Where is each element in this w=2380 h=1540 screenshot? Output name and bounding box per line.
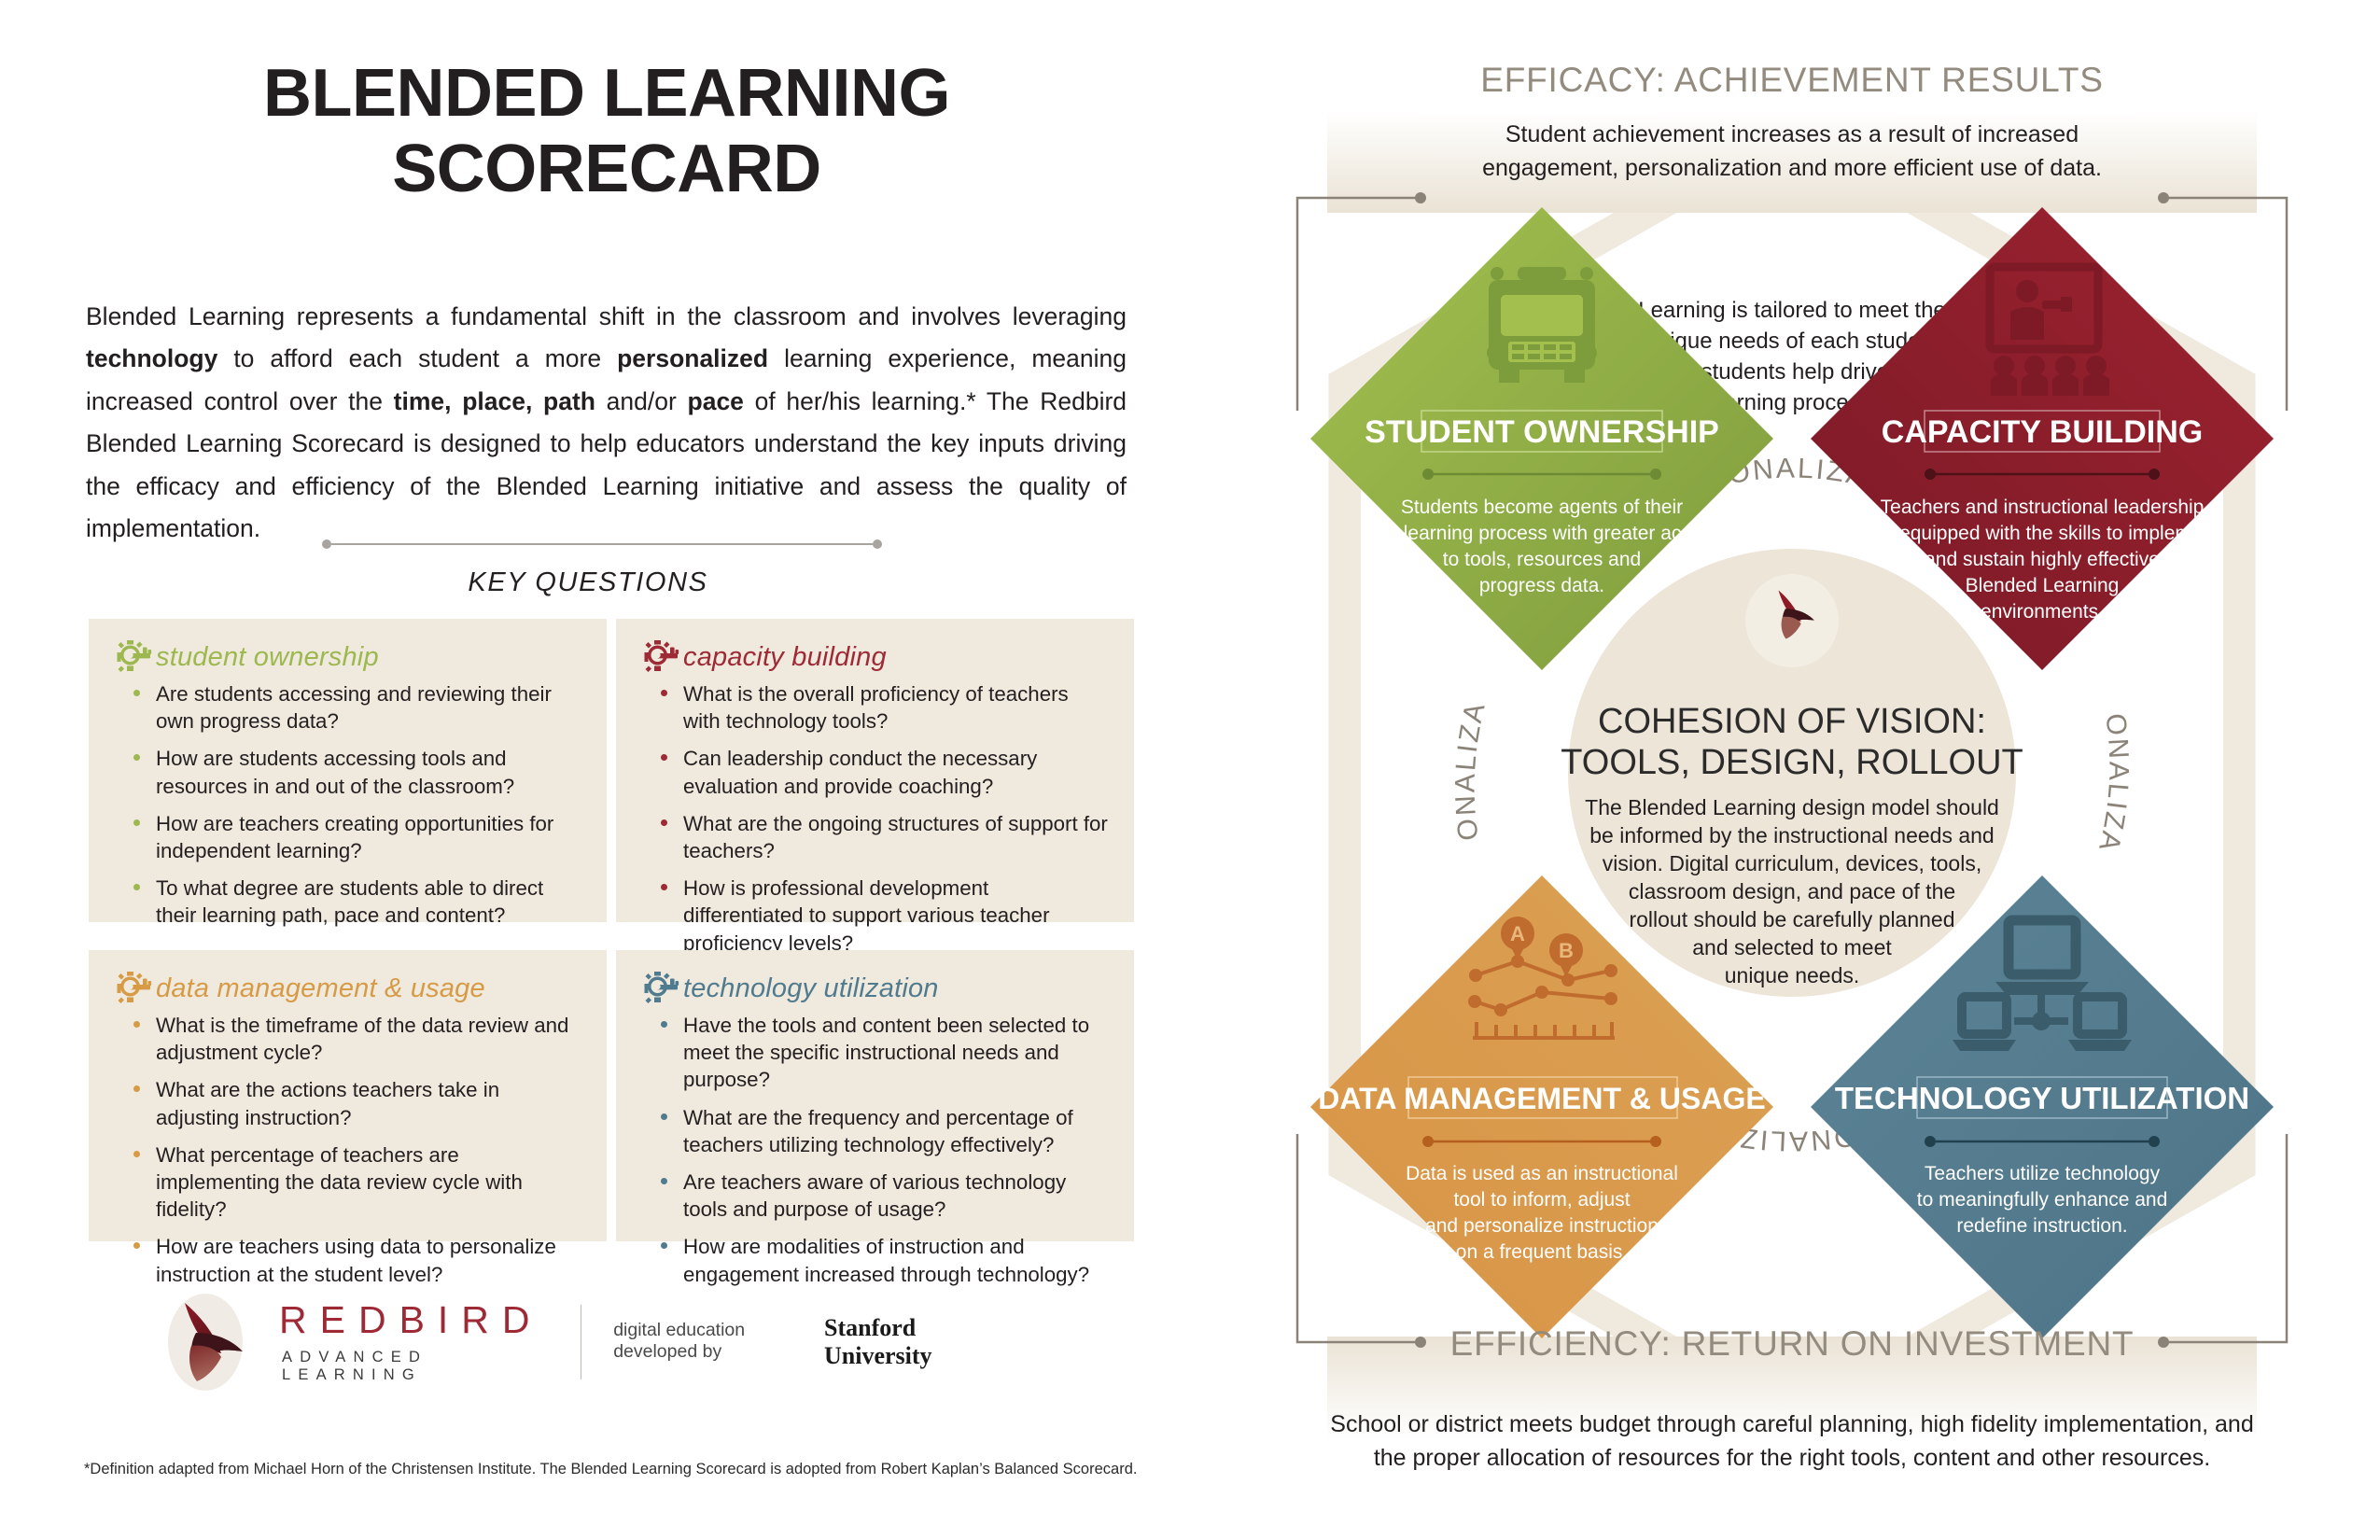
question-list: What is the overall proficiency of teach…	[640, 680, 1110, 957]
quadrant-body-line: redefine instruction.	[1956, 1215, 2127, 1237]
divider-dot-left	[322, 539, 331, 549]
question-list: Have the tools and content been selected…	[640, 1012, 1110, 1288]
quadrant-title: STUDENT OWNERSHIP	[1365, 414, 1719, 450]
intro-bold-time-place-path: time, place, path	[394, 387, 595, 415]
chart-point-a-label: A	[1510, 922, 1525, 945]
quadrant-body-line: to tools, resources and	[1443, 549, 1641, 570]
center-body-line: be informed by the instructional needs a…	[1589, 823, 1994, 847]
intro-text-4: and/or	[595, 387, 688, 415]
quadrant-title: DATA MANAGEMENT & USAGE	[1318, 1082, 1765, 1115]
intro-bold-pace: pace	[688, 387, 744, 415]
question-card-student-ownership: student ownership Are students accessing…	[89, 619, 607, 922]
question-item: What are the actions teachers take in ad…	[113, 1076, 582, 1130]
partner-prefix: digital education developed by	[613, 1320, 816, 1363]
page-title-line-1: BLENDED LEARNING	[112, 56, 1101, 132]
redbird-tagline: ADVANCED LEARNING	[282, 1349, 543, 1384]
chart-point-b-label: B	[1559, 939, 1574, 962]
efficacy-subtitle-line-2: engagement, personalization and more eff…	[1482, 155, 2102, 181]
question-item: Are teachers aware of various technology…	[640, 1169, 1110, 1223]
question-card-header: student ownership	[115, 639, 582, 675]
question-card-header: capacity building	[642, 639, 1110, 675]
intro-bold-personalized: personalized	[617, 344, 768, 372]
center-body-line: vision. Digital curriculum, devices, too…	[1603, 851, 1981, 875]
question-item: Are students accessing and reviewing the…	[113, 680, 582, 735]
divider-bar	[331, 543, 873, 545]
question-item: What are the ongoing structures of suppo…	[640, 810, 1110, 864]
question-card-title: data management & usage	[156, 973, 485, 1004]
question-item: How are teachers using data to personali…	[113, 1233, 582, 1287]
left-content-column: BLENDED LEARNING SCORECARD Blended Learn…	[0, 0, 1176, 1540]
key-gear-icon	[642, 639, 679, 675]
blended-learning-diagram: EFFICACY: ACHIEVEMENT RESULTS Student ac…	[1204, 0, 2380, 1540]
question-card-title: technology utilization	[683, 973, 939, 1004]
partner-credit: digital education developed by Stanford …	[613, 1314, 994, 1370]
efficiency-subtitle-line-2: the proper allocation of resources for t…	[1374, 1445, 2210, 1471]
personalization-line: unique needs of each student	[1645, 329, 1939, 354]
question-card-capacity-building: capacity building What is the overall pr…	[616, 619, 1134, 922]
quadrant-body-line: are equipped with the skills to implemen…	[1866, 523, 2219, 544]
quadrant-body-line: on a frequent basis.	[1456, 1241, 1628, 1263]
efficacy-header: EFFICACY: ACHIEVEMENT RESULTS	[1480, 61, 2103, 99]
question-item: How is professional development differen…	[640, 875, 1110, 957]
redbird-logo-icon	[154, 1292, 257, 1393]
question-card-title: student ownership	[156, 642, 379, 673]
quadrant-body-line: own learning process with greater access	[1362, 523, 1721, 544]
question-list: Are students accessing and reviewing the…	[113, 680, 582, 930]
key-gear-icon	[115, 971, 152, 1006]
question-item: What is the overall proficiency of teach…	[640, 680, 1110, 735]
page-title: BLENDED LEARNING SCORECARD	[112, 56, 1101, 206]
center-body-line: The Blended Learning design model should	[1585, 795, 1999, 819]
center-body-line: rollout should be carefully planned	[1629, 907, 1954, 931]
quadrant-body-line: progress data.	[1479, 575, 1604, 596]
center-body-line: unique needs.	[1725, 963, 1860, 987]
partner-name: Stanford University	[824, 1314, 994, 1370]
question-card-title: capacity building	[683, 642, 887, 673]
quadrant-body-line: Teachers utilize technology	[1925, 1163, 2161, 1184]
question-item: How are teachers creating opportunities …	[113, 810, 582, 864]
question-item: Have the tools and content been selected…	[640, 1012, 1110, 1094]
key-gear-icon	[642, 971, 679, 1006]
quadrant-title: CAPACITY BUILDING	[1882, 414, 2203, 450]
question-list: What is the timeframe of the data review…	[113, 1012, 582, 1288]
key-questions-divider	[322, 539, 882, 549]
question-item: What percentage of teachers are implemen…	[113, 1141, 582, 1224]
intro-text-2: to afford each student a more	[217, 344, 617, 372]
quadrant-body-line: Teachers and instructional leadership	[1881, 497, 2205, 518]
redbird-name: REDBIRD	[279, 1301, 543, 1339]
intro-text-1: Blended Learning represents a fundamenta…	[86, 302, 1127, 330]
brand-footer: REDBIRD ADVANCED LEARNING digital educat…	[154, 1286, 994, 1398]
center-body-line: and selected to meet	[1692, 935, 1892, 959]
question-item: To what degree are students able to dire…	[113, 875, 582, 929]
question-card-header: data management & usage	[115, 971, 582, 1006]
redbird-wordmark: REDBIRD ADVANCED LEARNING	[279, 1301, 543, 1384]
quadrant-body-line: tool to inform, adjust	[1453, 1189, 1630, 1211]
efficiency-subtitle-line-1: School or district meets budget through …	[1330, 1411, 2253, 1437]
question-card-data-management-usage: data management & usage What is the time…	[89, 950, 607, 1241]
quadrant-body-line: and sustain highly effective	[1925, 549, 2160, 570]
page-title-line-2: SCORECARD	[112, 132, 1101, 207]
quadrant-body-line: and personalize instruction	[1425, 1215, 1659, 1237]
intro-bold-technology: technology	[86, 344, 217, 372]
efficacy-subtitle-line-1: Student achievement increases as a resul…	[1505, 121, 2079, 147]
center-body-line: classroom design, and pace of the	[1629, 879, 1955, 903]
divider-dot-right	[873, 539, 882, 549]
center-title-line-2: TOOLS, DESIGN, ROLLOUT	[1561, 743, 2023, 782]
quadrant-body-line: Data is used as an instructional	[1406, 1163, 1678, 1184]
center-title-line-1: COHESION OF VISION:	[1598, 702, 1986, 741]
question-item: How are students accessing tools and res…	[113, 745, 582, 799]
question-item: Can leadership conduct the necessary eva…	[640, 745, 1110, 799]
center-circle: COHESION OF VISION: TOOLS, DESIGN, ROLLO…	[1547, 528, 2037, 1017]
question-item: What are the frequency and percentage of…	[640, 1104, 1110, 1158]
logo-divider	[581, 1305, 582, 1379]
quadrant-body-line: environments.	[1981, 601, 2104, 623]
personalization-line: Learning is tailored to meet the	[1638, 298, 1946, 323]
quadrant-body-line: Students become agents of their	[1401, 497, 1683, 518]
efficiency-header: EFFICIENCY: RETURN ON INVESTMENT	[1450, 1324, 2135, 1363]
key-questions-heading: KEY QUESTIONS	[0, 567, 1176, 598]
key-gear-icon	[115, 639, 152, 675]
question-card-header: technology utilization	[642, 971, 1110, 1006]
quadrant-title: TECHNOLOGY UTILIZATION	[1835, 1081, 2249, 1115]
question-item: How are modalities of instruction and en…	[640, 1233, 1110, 1287]
intro-paragraph: Blended Learning represents a fundamenta…	[86, 296, 1127, 551]
footnote: *Definition adapted from Michael Horn of…	[84, 1461, 1139, 1478]
quadrant-body-line: to meaningfully enhance and	[1917, 1189, 2168, 1211]
school-bus-icon	[1487, 267, 1597, 383]
question-item: What is the timeframe of the data review…	[113, 1012, 582, 1066]
question-card-technology-utilization: technology utilization Have the tools an…	[616, 950, 1134, 1241]
quadrant-body-line: Blended Learning	[1966, 575, 2120, 596]
